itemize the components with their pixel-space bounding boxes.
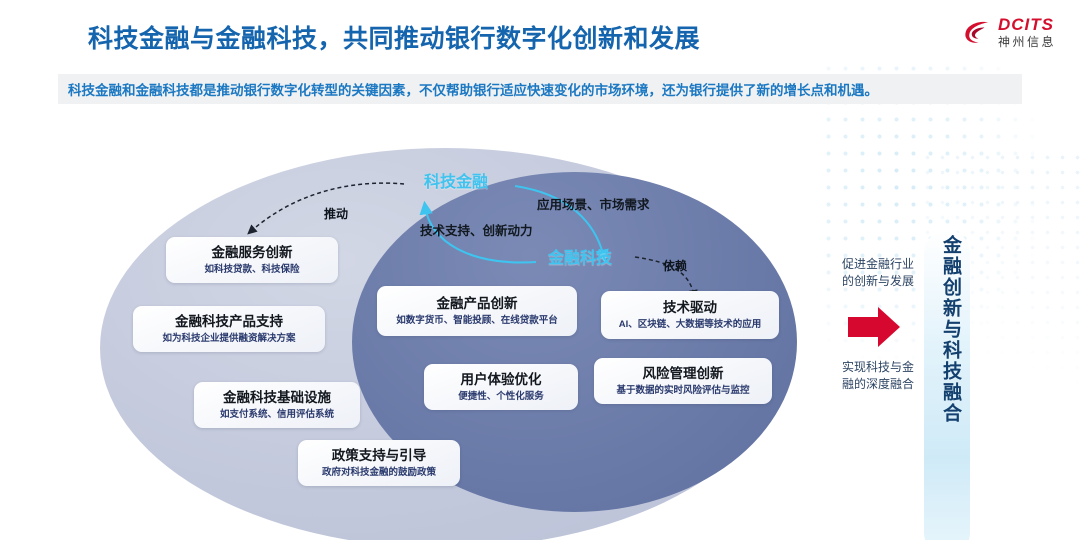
logo-text-cn: 神州信息 [998,36,1056,48]
subtitle-text: 科技金融和金融科技都是推动银行数字化转型的关键因素，不仅帮助银行适应快速变化的市… [68,79,878,99]
card-risk-management-innovation[interactable]: 风险管理创新 基于数据的实时风险评估与监控 [594,358,772,404]
note-deep-integration: 实现科技与金 融的深度融合 [832,359,924,394]
dcits-swoosh-icon [962,17,992,47]
card-subtitle: AI、区块链、大数据等技术的应用 [619,319,762,330]
card-title: 政策支持与引导 [332,448,427,464]
brand-logo: DCITS 神州信息 [962,16,1056,48]
subtitle-banner: 科技金融和金融科技都是推动银行数字化转型的关键因素，不仅帮助银行适应快速变化的市… [58,74,1022,104]
card-subtitle: 政府对科技金融的鼓励政策 [322,467,436,478]
cycle-label-fintech: 金融科技 [548,244,612,268]
dashed-label-depend: 依赖 [663,257,687,274]
concept-diagram: 金融创新与科技融合 科技 [0,110,1080,540]
cycle-edge-label-scenarios: 应用场景、市场需求 [537,194,650,213]
card-financial-product-innovation[interactable]: 金融产品创新 如数字货币、智能投顾、在线贷款平台 [377,286,577,336]
card-user-experience-optimization[interactable]: 用户体验优化 便捷性、个性化服务 [424,364,578,410]
card-title: 金融产品创新 [437,296,518,312]
card-technology-driven[interactable]: 技术驱动 AI、区块链、大数据等技术的应用 [601,291,779,339]
card-title: 用户体验优化 [461,372,542,388]
card-policy-support[interactable]: 政策支持与引导 政府对科技金融的鼓励政策 [298,440,460,486]
card-fintech-infrastructure[interactable]: 金融科技基础设施 如支付系统、信用评估系统 [194,382,360,428]
card-title: 金融科技产品支持 [175,314,283,330]
card-financial-service-innovation[interactable]: 金融服务创新 如科技贷款、科技保险 [166,237,338,283]
note-promote-innovation: 促进金融行业 的创新与发展 [832,256,924,291]
page-title: 科技金融与金融科技，共同推动银行数字化创新和发展 [88,19,700,55]
cycle-label-tech-finance: 科技金融 [424,168,488,192]
dashed-label-push: 推动 [324,205,348,222]
slide-canvas: 科技金融与金融科技，共同推动银行数字化创新和发展 DCITS 神州信息 科技金融… [0,0,1080,540]
card-subtitle: 如数字货币、智能投顾、在线贷款平台 [396,315,558,326]
card-subtitle: 如科技贷款、科技保险 [204,264,299,275]
card-fintech-product-support[interactable]: 金融科技产品支持 如为科技企业提供融资解决方案 [133,306,325,352]
card-subtitle: 基于数据的实时风险评估与监控 [616,385,749,396]
card-title: 技术驱动 [663,300,717,316]
card-subtitle: 便捷性、个性化服务 [458,391,544,402]
card-title: 金融科技基础设施 [223,390,331,406]
card-subtitle: 如为科技企业提供融资解决方案 [162,333,295,344]
cycle-edge-label-support: 技术支持、创新动力 [420,220,533,239]
card-subtitle: 如支付系统、信用评估系统 [220,409,334,420]
logo-text-en: DCITS [998,16,1056,33]
vertical-title: 金融创新与科技融合 [934,235,960,424]
card-title: 金融服务创新 [212,245,293,261]
red-arrow-icon [848,307,900,347]
card-title: 风险管理创新 [643,366,724,382]
